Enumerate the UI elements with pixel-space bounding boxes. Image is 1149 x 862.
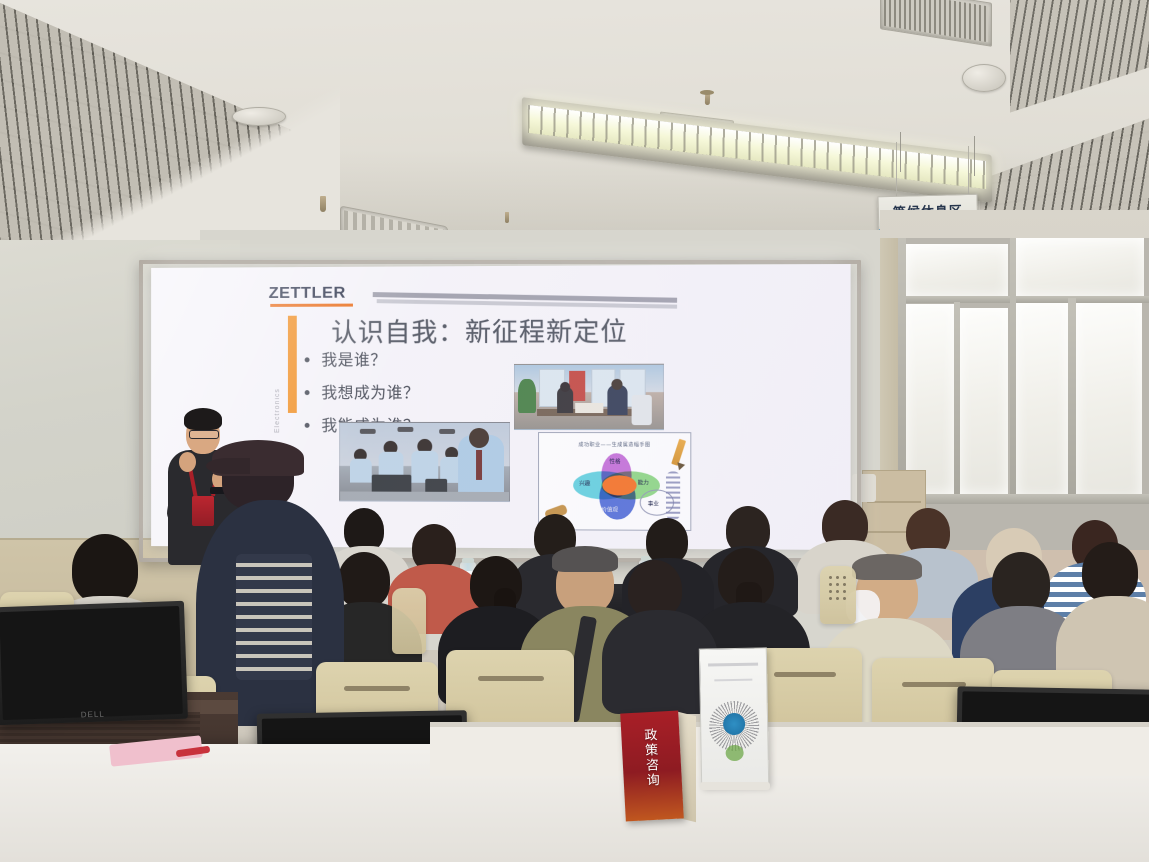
cap-brim (206, 458, 250, 474)
electronics-vertical-label: Electronics (274, 388, 281, 433)
squiggle-line-decoration (666, 471, 680, 519)
monitor-brand-label: DELL (81, 710, 105, 720)
tent-card-red[interactable]: 政策咨询 (620, 711, 684, 822)
chair-back-8 (392, 588, 426, 654)
audience-head-mid-6 (1082, 542, 1138, 602)
pencil-tip-icon (675, 462, 685, 471)
conference-room-scene: 等候休息区 ZETTLER (0, 0, 1149, 862)
venn-heading: 成功职业——生成属造幅手图 (539, 441, 690, 448)
fixture-hanger-2 (974, 136, 975, 176)
slide-photo-team-meeting (339, 422, 510, 502)
audience-head-near-1 (72, 534, 138, 604)
slide-photo-office-interview (514, 364, 664, 430)
zettler-logo: ZETTLER (270, 285, 353, 307)
tent-white-line-1-deco (708, 663, 758, 667)
chair-back-9 (820, 566, 856, 624)
window-wall (898, 238, 1149, 550)
venn-label-left: 兴趣 (579, 479, 590, 487)
presenter-hair (184, 408, 222, 430)
venn-label-top: 性格 (609, 457, 620, 465)
audience-head-mid-5 (992, 552, 1050, 614)
striped-shirt-pattern (236, 554, 312, 680)
fixture-hanger-1 (900, 132, 901, 172)
zettler-logo-underline (270, 304, 353, 307)
sprinkler-head-3 (505, 212, 509, 223)
venn-label-small: 事业 (648, 500, 659, 508)
audience-hair-mid-4 (852, 554, 922, 580)
presenter-badge (192, 496, 214, 526)
bullet-item-1: 我是谁？ (321, 346, 530, 370)
tent-card-red-text: 政策咨询 (642, 728, 661, 789)
audience-head-mid-7 (338, 552, 390, 608)
slide-title: 认识自我：新征程新定位 (331, 311, 732, 349)
orange-accent-bar (288, 316, 297, 413)
foreground-white-table-back (430, 726, 1149, 776)
venn-label-right: 能力 (638, 478, 649, 486)
presenter-hand-left (179, 452, 196, 472)
monitor-left[interactable]: DELL (0, 601, 188, 726)
presenter-glasses (189, 430, 219, 439)
green-dot-decoration (725, 745, 743, 761)
tent-white-line-2-deco (714, 679, 752, 682)
venn-center (602, 475, 636, 495)
venn-label-bottom: 价值观 (601, 505, 618, 513)
tent-card-white[interactable] (699, 647, 769, 786)
sprinkler-cap-1 (700, 90, 714, 95)
sign-hanger-left (896, 142, 897, 200)
smoke-detector-left (232, 107, 286, 126)
tent-card-stand (700, 782, 770, 790)
table-edge-highlight (430, 722, 1149, 727)
smoke-detector-right (962, 64, 1006, 92)
audience-hair-mid-2 (552, 546, 618, 572)
sprinkler-head-2 (320, 196, 326, 212)
zettler-logo-text: ZETTLER (269, 285, 355, 303)
bullet-item-2: 我想成为谁？ (321, 379, 530, 403)
